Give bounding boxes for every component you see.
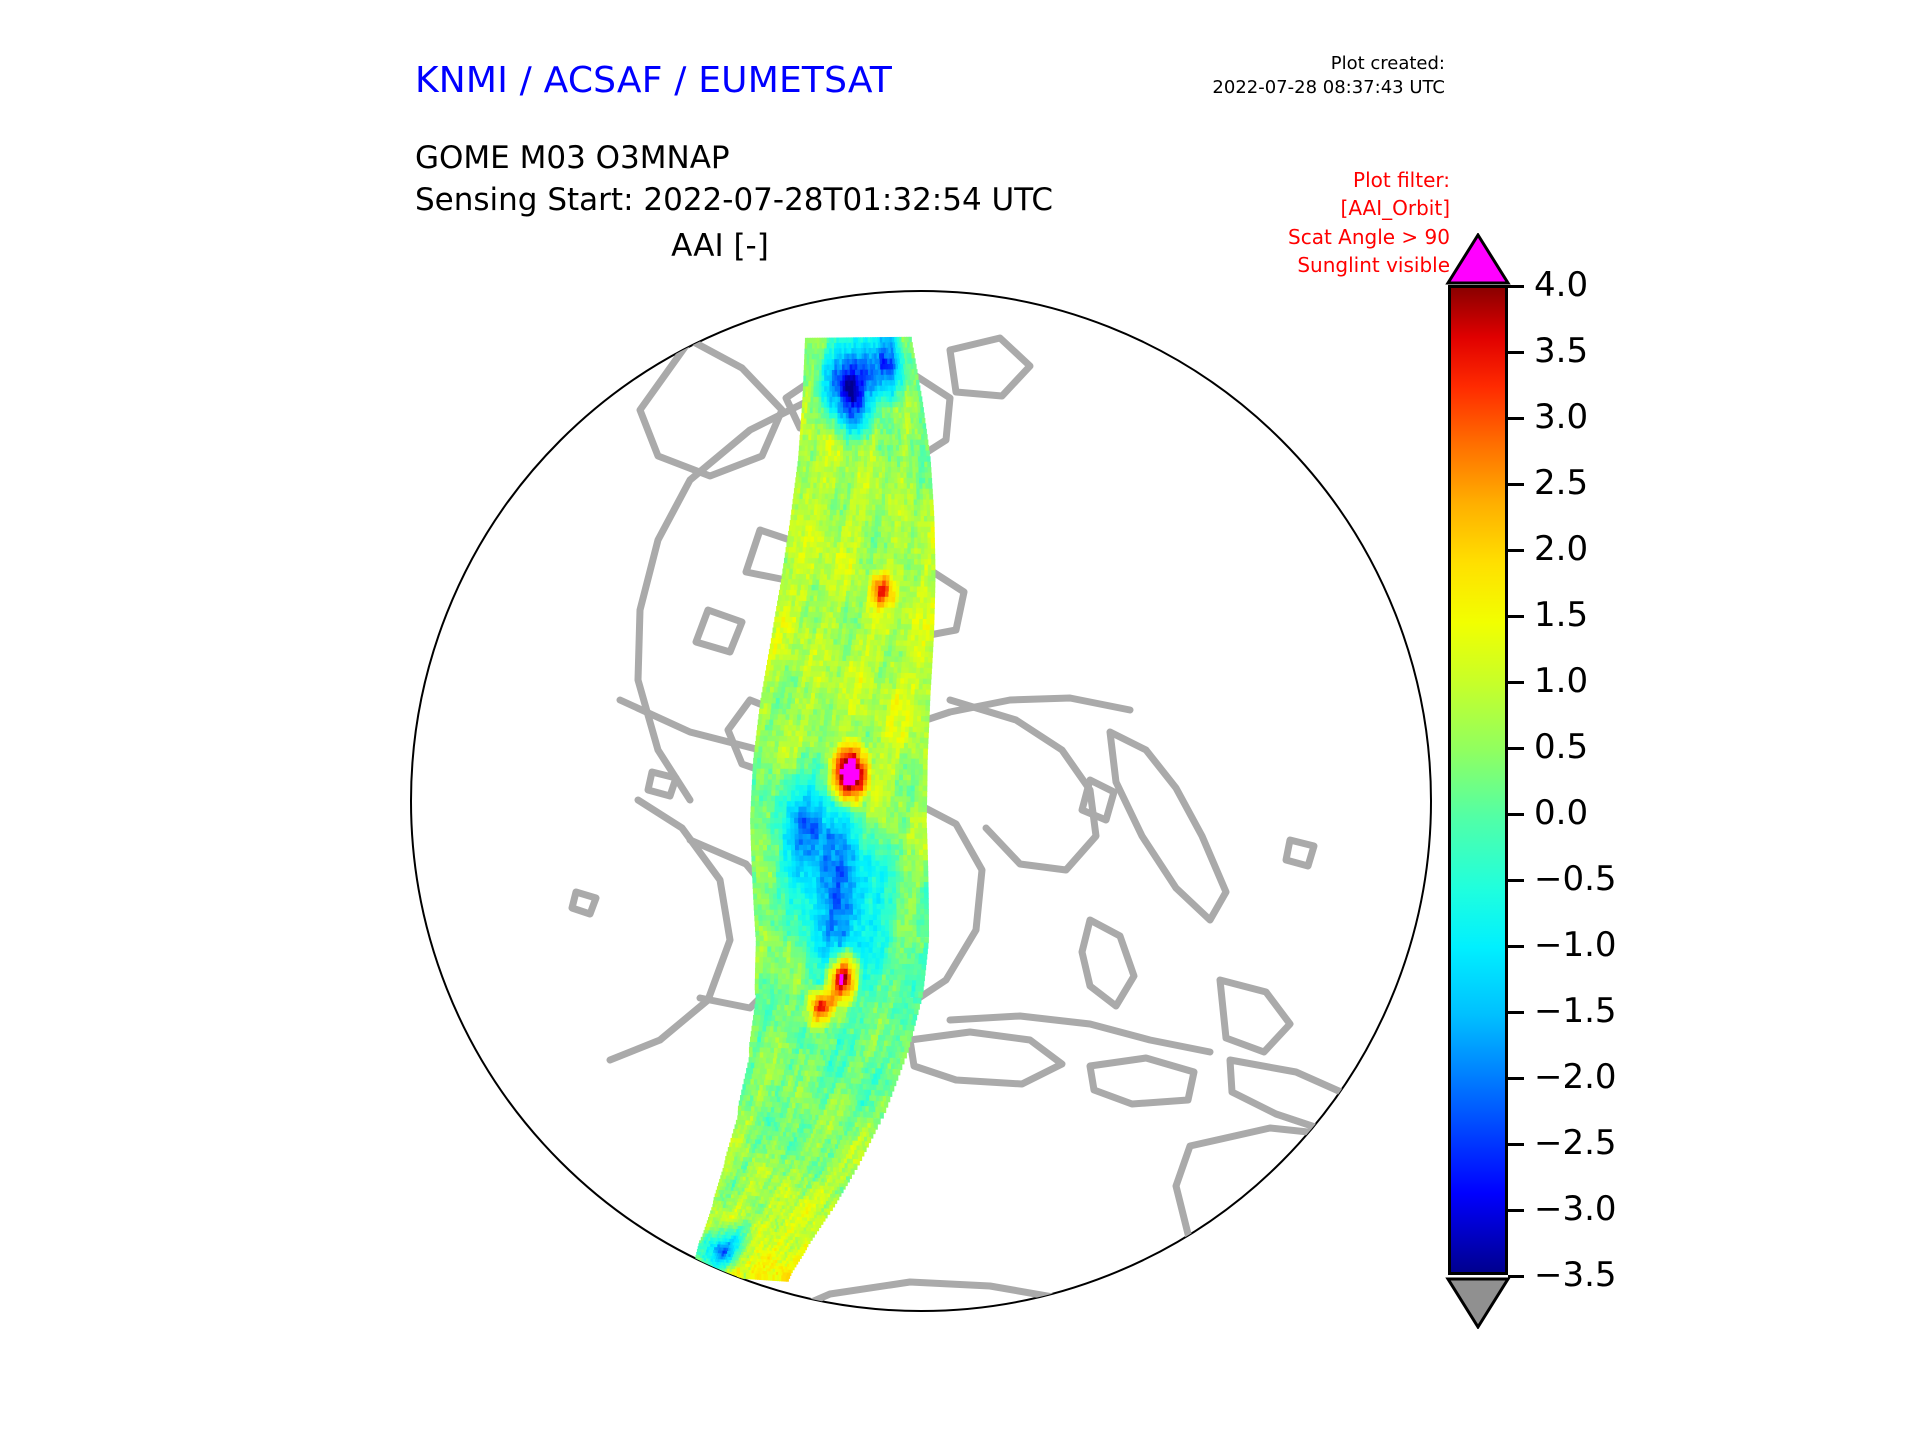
plot-created-label: Plot created:: [1212, 52, 1445, 76]
plot-created-block: Plot created: 2022-07-28 08:37:43 UTC: [1212, 52, 1445, 101]
colorbar-tick-label: −2.0: [1534, 1057, 1617, 1097]
colorbar-tick: [1508, 615, 1524, 618]
colorbar-tick-label: 3.5: [1534, 331, 1588, 371]
colorbar-tick-label: −3.0: [1534, 1189, 1617, 1229]
colorbar-tick: [1508, 417, 1524, 420]
colorbar-tick: [1508, 1077, 1524, 1080]
colorbar-tick: [1508, 1143, 1524, 1146]
colorbar-tick: [1508, 285, 1524, 288]
colorbar-tick-label: −1.5: [1534, 991, 1617, 1031]
colorbar-tick-label: −3.5: [1534, 1255, 1617, 1295]
colorbar-tick-label: −1.0: [1534, 925, 1617, 965]
plot-filter-label: Plot filter:: [1288, 166, 1450, 194]
map-panel: [390, 280, 1440, 1330]
colorbar-tick: [1508, 483, 1524, 486]
colorbar-tick: [1508, 549, 1524, 552]
coastlines: [572, 338, 1434, 1330]
product-title: GOME M03 O3MNAP: [415, 140, 730, 176]
colorbar-gradient: [1448, 285, 1508, 1275]
colorbar-tick-label: 3.0: [1534, 397, 1588, 437]
colorbar-tick-label: 1.0: [1534, 661, 1588, 701]
colorbar-tick-label: −0.5: [1534, 859, 1617, 899]
sensing-start-label: Sensing Start: 2022-07-28T01:32:54 UTC: [415, 182, 1053, 218]
plot-filter-condition: Scat Angle > 90: [1288, 223, 1450, 251]
colorbar-tick-label: −2.5: [1534, 1123, 1617, 1163]
colorbar: 4.03.53.02.52.01.51.00.50.0−0.5−1.0−1.5−…: [1448, 285, 1512, 1275]
plot-created-timestamp: 2022-07-28 08:37:43 UTC: [1212, 76, 1445, 100]
colorbar-tick: [1508, 813, 1524, 816]
organisation-title: KNMI / ACSAF / EUMETSAT: [415, 60, 892, 101]
colorbar-tick: [1508, 945, 1524, 948]
colorbar-tick: [1508, 351, 1524, 354]
aai-swath: [690, 337, 935, 1289]
colorbar-tick-label: 1.5: [1534, 595, 1588, 635]
plot-filter-note: Sunglint visible: [1288, 251, 1450, 279]
colorbar-tick-label: 0.0: [1534, 793, 1588, 833]
colorbar-tick: [1508, 879, 1524, 882]
colorbar-tick: [1508, 1011, 1524, 1014]
colorbar-tick-label: 4.0: [1534, 265, 1588, 305]
plot-filter-name: [AAI_Orbit]: [1288, 194, 1450, 222]
colorbar-tick: [1508, 1209, 1524, 1212]
colorbar-under-arrow: [1445, 1275, 1511, 1329]
colorbar-tick-label: 0.5: [1534, 727, 1588, 767]
quantity-title: AAI [-]: [0, 228, 1440, 264]
colorbar-tick: [1508, 681, 1524, 684]
colorbar-tick-label: 2.0: [1534, 529, 1588, 569]
colorbar-tick: [1508, 1275, 1524, 1278]
colorbar-tick-label: 2.5: [1534, 463, 1588, 503]
colorbar-tick: [1508, 747, 1524, 750]
colorbar-over-arrow: [1445, 233, 1511, 285]
map-canvas: [390, 280, 1440, 1330]
plot-filter-block: Plot filter: [AAI_Orbit] Scat Angle > 90…: [1288, 166, 1450, 280]
